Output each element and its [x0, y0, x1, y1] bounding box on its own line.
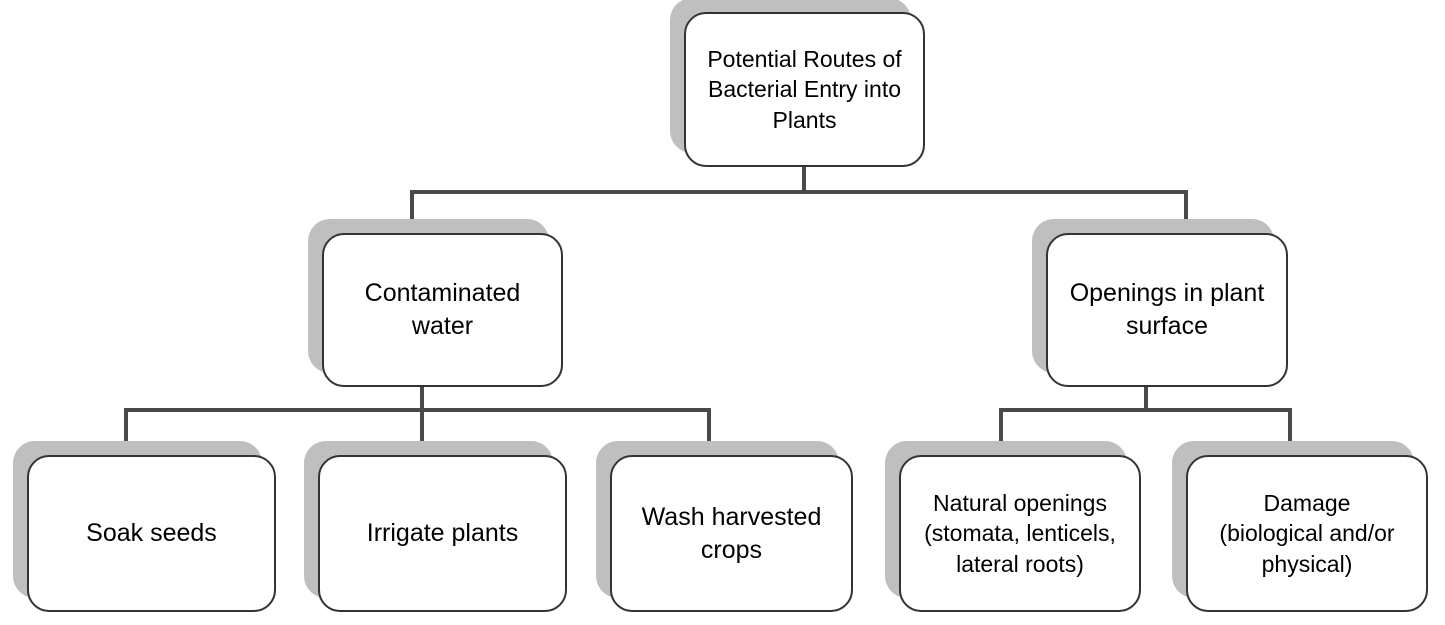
node-label: Damage (biological and/or physical) — [1209, 488, 1404, 579]
node-box: Irrigate plants — [318, 455, 567, 612]
node-label: Openings in plant surface — [1060, 277, 1275, 343]
connector-level2-bus — [410, 190, 1188, 194]
node-label: Irrigate plants — [357, 517, 528, 550]
node-label: Natural openings (stomata, lenticels, la… — [914, 488, 1126, 579]
node-box: Damage (biological and/or physical) — [1186, 455, 1428, 612]
connector-root-stem — [802, 167, 806, 192]
node-natural-openings[interactable]: Natural openings (stomata, lenticels, la… — [899, 455, 1141, 612]
node-box: Openings in plant surface — [1046, 233, 1288, 387]
node-box: Wash harvested crops — [610, 455, 853, 612]
node-soak-seeds[interactable]: Soak seeds — [27, 455, 276, 612]
node-label: Contaminated water — [355, 277, 531, 343]
node-label: Potential Routes of Bacterial Entry into… — [697, 44, 911, 135]
connector-openings-stem — [1144, 387, 1148, 410]
connector-left-leaf-bus — [124, 408, 711, 412]
node-label: Wash harvested crops — [632, 501, 832, 567]
node-contaminated-water[interactable]: Contaminated water — [322, 233, 563, 387]
node-box: Natural openings (stomata, lenticels, la… — [899, 455, 1141, 612]
connector-contaminated-water-stem — [420, 387, 424, 410]
flowchart-canvas: Potential Routes of Bacterial Entry into… — [0, 0, 1445, 625]
node-box: Contaminated water — [322, 233, 563, 387]
node-irrigate-plants[interactable]: Irrigate plants — [318, 455, 567, 612]
node-damage[interactable]: Damage (biological and/or physical) — [1186, 455, 1428, 612]
connector-right-leaf-bus — [999, 408, 1292, 412]
node-box: Potential Routes of Bacterial Entry into… — [684, 12, 925, 167]
node-wash-harvested-crops[interactable]: Wash harvested crops — [610, 455, 853, 612]
node-label: Soak seeds — [76, 517, 227, 550]
node-root-potential-routes[interactable]: Potential Routes of Bacterial Entry into… — [684, 12, 925, 167]
node-openings-in-plant-surface[interactable]: Openings in plant surface — [1046, 233, 1288, 387]
node-box: Soak seeds — [27, 455, 276, 612]
